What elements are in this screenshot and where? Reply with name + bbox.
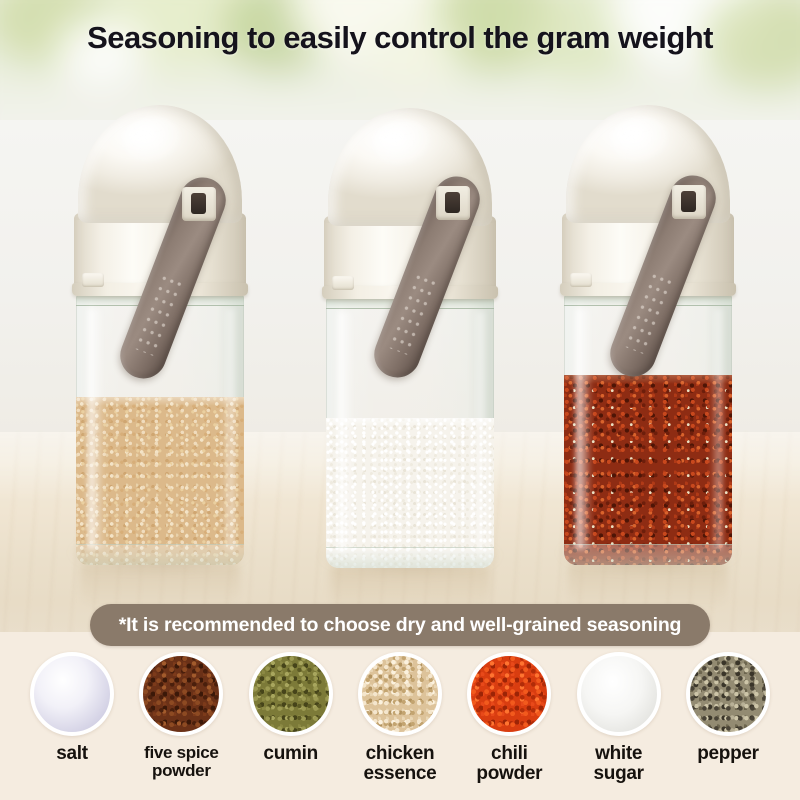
swatch-pepper-icon: [686, 652, 770, 736]
glass-highlight-right: [710, 309, 722, 549]
glass-highlight-right: [222, 309, 234, 549]
swatch-pepper[interactable]: pepper: [682, 652, 774, 784]
swatch-label-line: essence: [364, 764, 437, 784]
bottle-reflection: [568, 563, 728, 609]
swatch-salt[interactable]: salt: [26, 652, 118, 784]
swatch-salt-icon: [30, 652, 114, 736]
swatch-label-line: sugar: [594, 764, 644, 784]
cap-tab: [82, 273, 104, 287]
cap-tab: [332, 276, 354, 290]
swatch-row: salt five spice powder cumin chicken ess…: [0, 652, 800, 784]
swatch-salt-label: salt: [56, 744, 88, 764]
swatch-chili-powder-label: chili powder: [476, 744, 542, 784]
swatch-cumin[interactable]: cumin: [245, 652, 337, 784]
hinge-slot: [681, 191, 696, 212]
swatch-five-spice-powder-icon: [139, 652, 223, 736]
seasoning-dispenser-salt[interactable]: [310, 108, 510, 568]
hinge-slot: [191, 193, 206, 214]
swatch-five-spice-powder-label: five spice powder: [135, 744, 227, 780]
swatch-chili-powder-icon: [467, 652, 551, 736]
hinge-slot: [445, 192, 460, 213]
swatch-white-sugar[interactable]: white sugar: [573, 652, 665, 784]
bottle-reflection: [80, 563, 240, 609]
recommendation-text: *It is recommended to choose dry and wel…: [119, 614, 682, 637]
swatch-white-sugar-icon: [577, 652, 661, 736]
swatch-chicken-essence-label: chicken essence: [364, 744, 437, 784]
product-marketing-image: *It is recommended to choose dry and wel…: [0, 0, 800, 800]
cap-tab: [570, 273, 592, 287]
swatch-pepper-label: pepper: [697, 744, 759, 764]
recommendation-banner: *It is recommended to choose dry and wel…: [90, 604, 710, 646]
lever-hinge: [672, 185, 706, 219]
swatch-cumin-label: cumin: [263, 744, 317, 764]
swatch-five-spice-powder[interactable]: five spice powder: [135, 652, 227, 784]
glass-highlight-left: [576, 309, 592, 549]
glass-highlight-left: [338, 312, 354, 552]
swatch-label-line: powder: [476, 764, 542, 784]
swatch-cumin-icon: [249, 652, 333, 736]
swatch-chili-powder[interactable]: chili powder: [463, 652, 555, 784]
swatch-label-line: white: [594, 744, 644, 764]
product-photo-scene: [0, 0, 800, 640]
headline: Seasoning to easily control the gram wei…: [0, 20, 800, 56]
cap-gloss: [610, 117, 672, 165]
glass-highlight-right: [472, 312, 484, 552]
swatch-chicken-essence[interactable]: chicken essence: [354, 652, 446, 784]
swatch-label-line: chili: [476, 744, 542, 764]
lever-hinge: [436, 186, 470, 220]
seasoning-dispenser-chili[interactable]: [548, 105, 748, 565]
cap-gloss: [122, 117, 184, 165]
cap-gloss: [372, 120, 434, 168]
swatch-white-sugar-label: white sugar: [594, 744, 644, 784]
lever-hinge: [182, 187, 216, 221]
glass-highlight-left: [88, 309, 104, 549]
swatch-chicken-essence-icon: [358, 652, 442, 736]
swatch-label-line: chicken: [364, 744, 437, 764]
seasoning-dispenser-sesame[interactable]: [60, 105, 260, 565]
